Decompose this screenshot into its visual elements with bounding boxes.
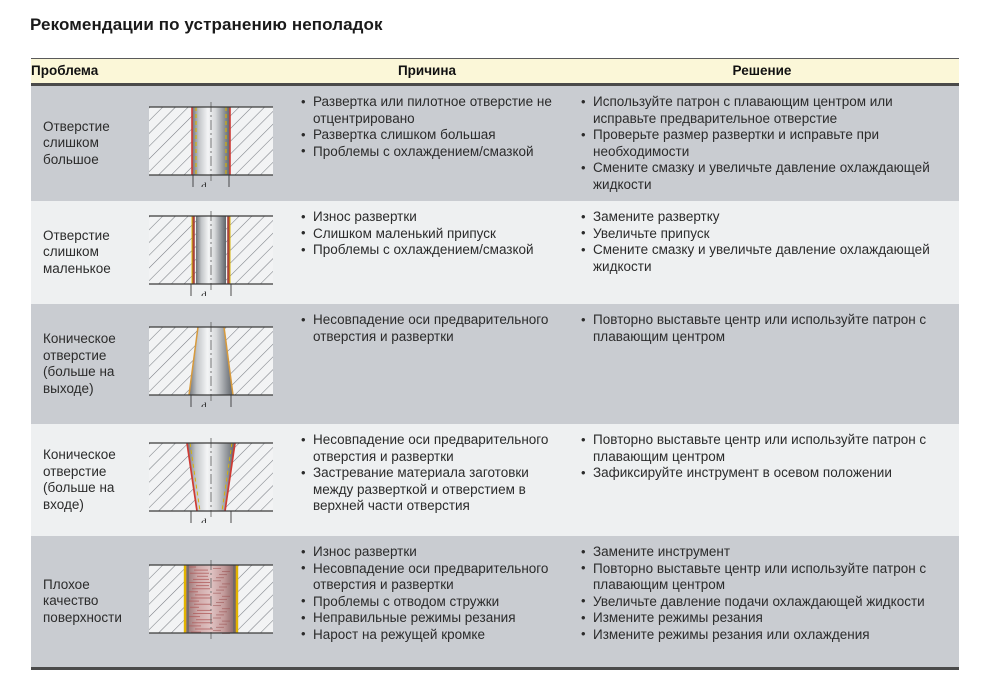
cause-item: Нарост на режущей кромке bbox=[301, 627, 555, 644]
problem-cell: Коническоеотверстие(больше навходе)dnom bbox=[31, 424, 289, 536]
cause-item: Проблемы с охлаждением/смазкой bbox=[301, 144, 555, 161]
cause-item: Неправильные режимы резания bbox=[301, 610, 555, 627]
solution-item: Измените режимы резания bbox=[581, 610, 949, 627]
solution-cell: Используйте патрон с плавающим центром и… bbox=[565, 85, 959, 202]
problem-cell-inner: Отверстиеслишкоммаленькоеdnom bbox=[31, 201, 289, 304]
cause-item: Проблемы с отводом стружки bbox=[301, 594, 555, 611]
svg-text:dnom: dnom bbox=[201, 401, 222, 408]
cause-item: Развертка или пилотное отверстие не отце… bbox=[301, 94, 555, 127]
cause-list: Износ разверткиСлишком маленький припуск… bbox=[289, 201, 565, 267]
cause-item: Застревание материала заготовки между ра… bbox=[301, 465, 555, 515]
solution-item: Зафиксируйте инструмент в осевом положен… bbox=[581, 465, 949, 482]
problem-label: Коническоеотверстие(больше навыходе) bbox=[31, 331, 143, 397]
table-header: Проблема Причина Решение bbox=[31, 59, 959, 85]
solution-cell: Повторно выставьте центр или используйте… bbox=[565, 304, 959, 424]
cause-item: Несовпадение оси предварительного отверс… bbox=[301, 312, 555, 345]
cause-item: Несовпадение оси предварительного отверс… bbox=[301, 561, 555, 594]
cause-list: Износ разверткиНесовпадение оси предвари… bbox=[289, 536, 565, 651]
page-title: Рекомендации по устранению неполадок bbox=[30, 15, 383, 35]
solution-item: Повторно выставьте центр или используйте… bbox=[581, 561, 949, 594]
cause-item: Износ развертки bbox=[301, 544, 555, 561]
bore-cross-section-figure-bore-oversize: dnom bbox=[143, 101, 281, 187]
table-row: ОтверстиеслишкомбольшоеdnomРазвертка или… bbox=[31, 85, 959, 202]
column-header-solution: Решение bbox=[565, 59, 959, 85]
cause-cell: Износ разверткиСлишком маленький припуск… bbox=[289, 201, 565, 304]
problem-cell-inner: Плохоекачествоповерхности bbox=[31, 536, 289, 667]
solution-item: Повторно выставьте центр или используйте… bbox=[581, 432, 949, 465]
cause-item: Проблемы с охлаждением/смазкой bbox=[301, 242, 555, 259]
solution-list: Повторно выставьте центр или используйте… bbox=[565, 304, 959, 353]
cause-item: Несовпадение оси предварительного отверс… bbox=[301, 432, 555, 465]
troubleshooting-page: Рекомендации по устранению неполадок Про… bbox=[0, 0, 990, 697]
cause-cell: Развертка или пилотное отверстие не отце… bbox=[289, 85, 565, 202]
svg-text:dnom: dnom bbox=[201, 517, 222, 524]
problem-label: Отверстиеслишкомбольшое bbox=[31, 119, 143, 169]
problem-cell: Отверстиеслишкомбольшоеdnom bbox=[31, 85, 289, 202]
cause-item: Развертка слишком большая bbox=[301, 127, 555, 144]
cause-cell: Несовпадение оси предварительного отверс… bbox=[289, 304, 565, 424]
problem-cell: Коническоеотверстие(больше навыходе)dnom bbox=[31, 304, 289, 424]
solution-item: Увеличьте припуск bbox=[581, 226, 949, 243]
table-header-row: Проблема Причина Решение bbox=[31, 59, 959, 85]
table-row: ОтверстиеслишкоммаленькоеdnomИзнос разве… bbox=[31, 201, 959, 304]
solution-list: Замените инструментПовторно выставьте це… bbox=[565, 536, 959, 651]
solution-item: Используйте патрон с плавающим центром и… bbox=[581, 94, 949, 127]
cause-cell: Несовпадение оси предварительного отверс… bbox=[289, 424, 565, 536]
troubleshooting-table: Проблема Причина Решение Отверстиеслишко… bbox=[31, 59, 959, 667]
cause-list: Развертка или пилотное отверстие не отце… bbox=[289, 86, 565, 168]
cause-list: Несовпадение оси предварительного отверс… bbox=[289, 424, 565, 523]
table-row: ПлохоекачествоповерхностиИзнос развертки… bbox=[31, 536, 959, 667]
cause-item: Износ развертки bbox=[301, 209, 555, 226]
solution-list: Используйте патрон с плавающим центром и… bbox=[565, 86, 959, 201]
solution-item: Смените смазку и увеличьте давление охла… bbox=[581, 242, 949, 275]
troubleshooting-table-wrapper: Проблема Причина Решение Отверстиеслишко… bbox=[31, 58, 959, 670]
table-row: Коническоеотверстие(больше навыходе)dnom… bbox=[31, 304, 959, 424]
problem-label: Отверстиеслишкоммаленькое bbox=[31, 228, 143, 278]
problem-cell-inner: Коническоеотверстие(больше навыходе)dnom bbox=[31, 304, 289, 424]
problem-cell-inner: Коническоеотверстие(больше навходе)dnom bbox=[31, 424, 289, 536]
solution-item: Повторно выставьте центр или используйте… bbox=[581, 312, 949, 345]
solution-item: Увеличьте давление подачи охлаждающей жи… bbox=[581, 594, 949, 611]
column-header-problem: Проблема bbox=[31, 59, 289, 85]
bore-cross-section-figure-bore-rough-surface bbox=[143, 559, 281, 645]
table-row: Коническоеотверстие(больше навходе)dnomН… bbox=[31, 424, 959, 536]
solution-item: Проверьте размер развертки и исправьте п… bbox=[581, 127, 949, 160]
svg-text:dnom: dnom bbox=[201, 180, 222, 187]
bore-cross-section-figure-bore-taper-exit: dnom bbox=[143, 321, 281, 407]
solution-cell: Повторно выставьте центр или используйте… bbox=[565, 424, 959, 536]
bore-cross-section-figure-bore-taper-entry: dnom bbox=[143, 437, 281, 523]
solution-list: Замените разверткуУвеличьте припускСмени… bbox=[565, 201, 959, 283]
solution-cell: Замените разверткуУвеличьте припускСмени… bbox=[565, 201, 959, 304]
problem-cell: Плохоекачествоповерхности bbox=[31, 536, 289, 667]
problem-cell-inner: Отверстиеслишкомбольшоеdnom bbox=[31, 86, 289, 201]
solution-item: Смените смазку и увеличьте давление охла… bbox=[581, 160, 949, 193]
column-header-cause: Причина bbox=[289, 59, 565, 85]
table-body: ОтверстиеслишкомбольшоеdnomРазвертка или… bbox=[31, 85, 959, 668]
cause-list: Несовпадение оси предварительного отверс… bbox=[289, 304, 565, 353]
problem-label: Коническоеотверстие(больше навходе) bbox=[31, 447, 143, 513]
problem-label: Плохоекачествоповерхности bbox=[31, 577, 143, 627]
solution-item: Измените режимы резания или охлаждения bbox=[581, 627, 949, 644]
svg-text:dnom: dnom bbox=[201, 289, 222, 296]
solution-list: Повторно выставьте центр или используйте… bbox=[565, 424, 959, 490]
solution-item: Замените развертку bbox=[581, 209, 949, 226]
cause-item: Слишком маленький припуск bbox=[301, 226, 555, 243]
solution-cell: Замените инструментПовторно выставьте це… bbox=[565, 536, 959, 667]
cause-cell: Износ разверткиНесовпадение оси предвари… bbox=[289, 536, 565, 667]
problem-cell: Отверстиеслишкоммаленькоеdnom bbox=[31, 201, 289, 304]
solution-item: Замените инструмент bbox=[581, 544, 949, 561]
bore-cross-section-figure-bore-undersize: dnom bbox=[143, 210, 281, 296]
